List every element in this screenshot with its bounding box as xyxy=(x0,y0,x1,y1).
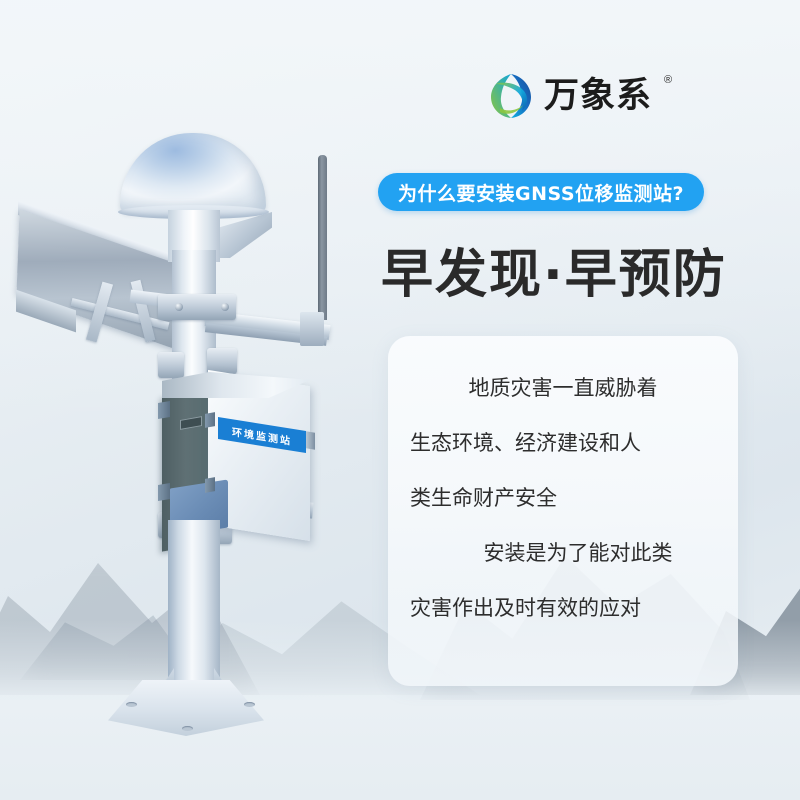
description-line: 类生命财产安全 xyxy=(410,488,716,509)
registered-trademark-icon: ® xyxy=(664,74,672,86)
description-line: 安装是为了能对此类 xyxy=(410,543,716,564)
content-column: 万象系 ® 为什么要安装GNSS位移监测站? 早发现·早预防 地质灾害一直威胁着… xyxy=(0,0,800,800)
description-panel: 地质灾害一直威胁着 生态环境、经济建设和人 类生命财产安全 安装是为了能对此类 … xyxy=(388,336,738,686)
globe-swirl-logo-icon xyxy=(488,72,534,120)
question-badge-text: 为什么要安装GNSS位移监测站? xyxy=(398,179,684,206)
description-line: 地质灾害一直威胁着 xyxy=(410,378,716,399)
brand-name: 万象系 xyxy=(544,79,652,114)
question-badge[interactable]: 为什么要安装GNSS位移监测站? xyxy=(378,173,704,211)
description-line: 生态环境、经济建设和人 xyxy=(410,433,716,454)
page-title: 早发现·早预防 xyxy=(381,232,727,307)
poster-canvas: 环境监测站 xyxy=(0,0,800,800)
brand-logo: 万象系 ® xyxy=(488,72,672,120)
description-line: 灾害作出及时有效的应对 xyxy=(410,598,716,619)
